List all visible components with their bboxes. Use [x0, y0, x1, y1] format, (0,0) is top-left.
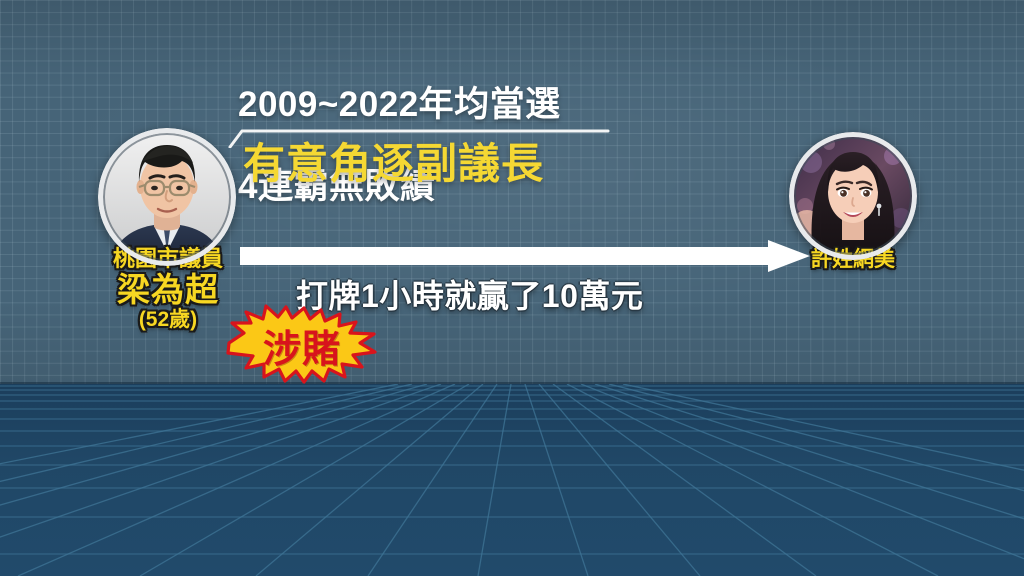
headline-yellow: 有意角逐副議長 [243, 143, 544, 185]
avatar-right-ring [789, 132, 917, 260]
gambling-badge: 涉賭 [222, 303, 382, 385]
perspective-grid-icon [0, 384, 1024, 576]
avatar-left-ring [98, 128, 236, 266]
headline-white-line1: 2009~2022年均當選 [238, 85, 858, 126]
background-floor [0, 384, 1024, 576]
news-graphic-stage: 2009~2022年均當選 4連霸無敗績 有意角逐副議長 [0, 0, 1024, 576]
avatar-left-person[interactable] [98, 128, 236, 266]
gambling-badge-label: 涉賭 [222, 303, 382, 385]
left-person-name: 梁為超 [0, 273, 336, 306]
avatar-right-person[interactable] [789, 132, 917, 260]
